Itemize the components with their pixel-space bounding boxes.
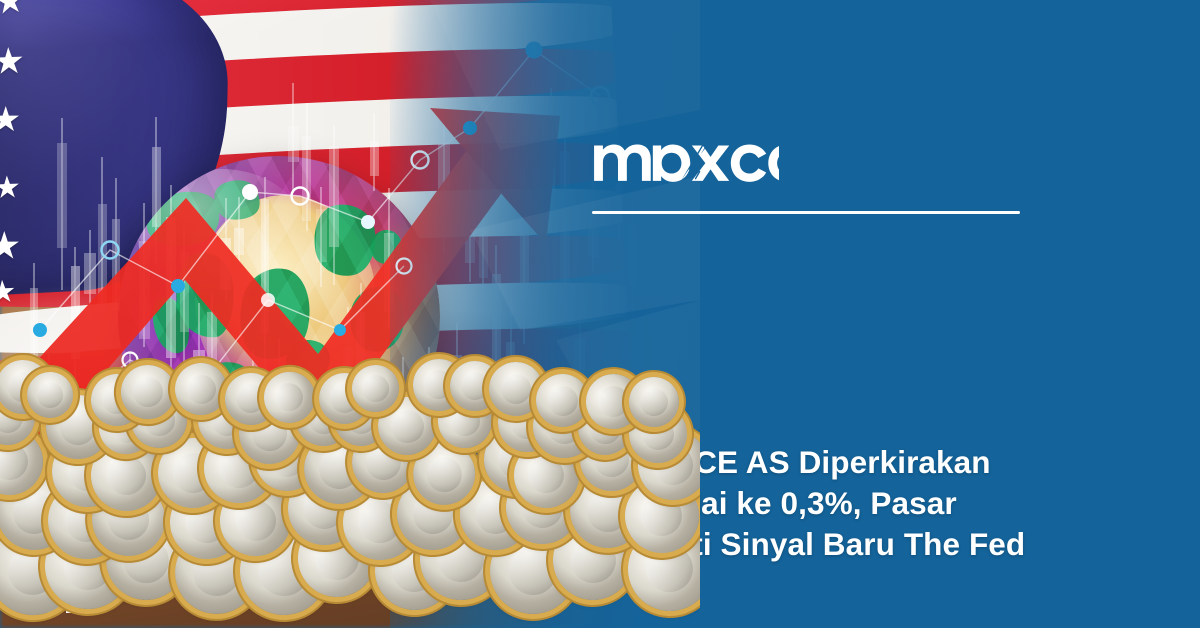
maxco-logo-wordmark [592,133,779,185]
maxco-logo[interactable] [592,133,779,185]
divider-rule [592,211,1020,214]
news-banner: ★★★★★★★★★★★★ [0,0,1200,628]
